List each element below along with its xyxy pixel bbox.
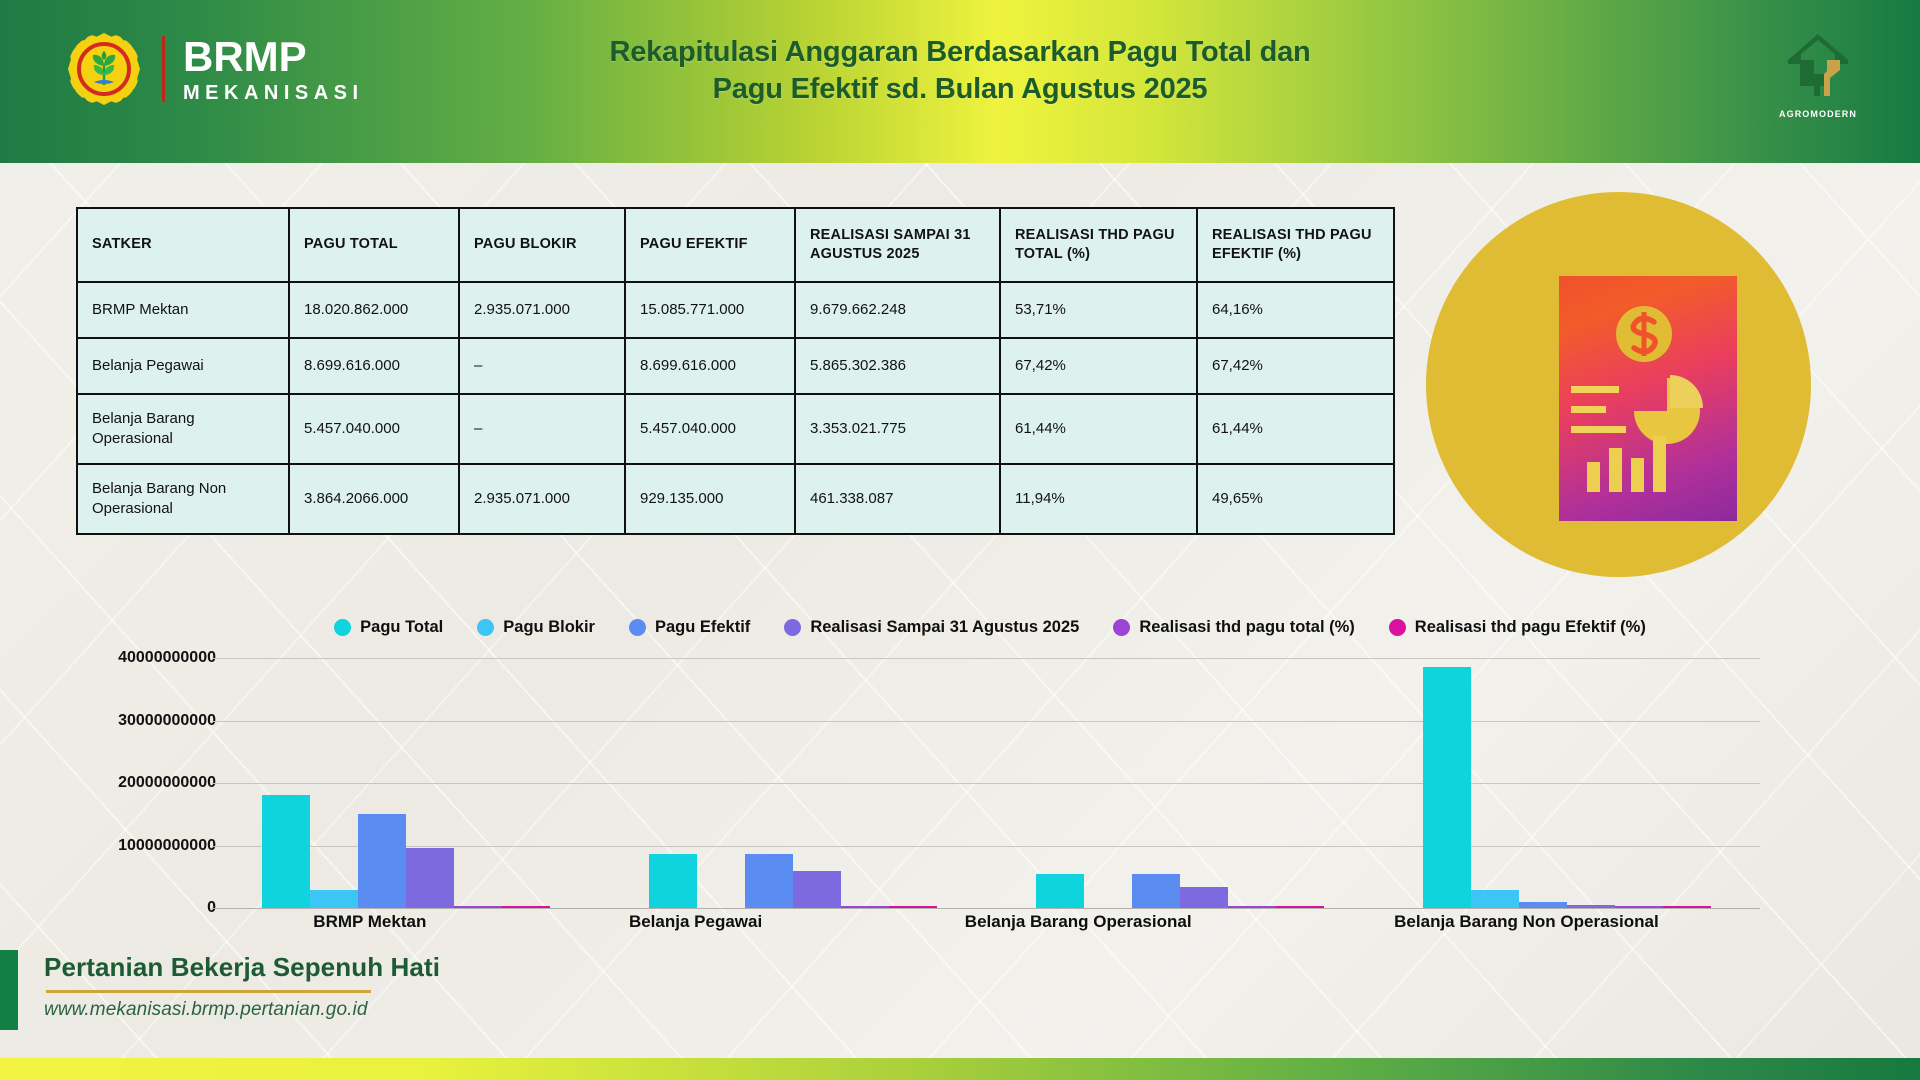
legend-item-pct-efektif[interactable]: Realisasi thd pagu Efektif (%) [1389,618,1646,637]
cell-pct-efektif: 64,16% [1197,282,1394,338]
bar[interactable] [454,906,502,909]
x-tick-label: Belanja Barang Non Operasional [1394,912,1659,932]
cell-realisasi: 461.338.087 [795,464,1000,534]
bar[interactable] [1519,902,1567,908]
bar[interactable] [745,854,793,908]
legend-swatch-icon [1113,619,1130,636]
legend-swatch-icon [477,619,494,636]
legend-item-pagu-total[interactable]: Pagu Total [334,618,443,637]
cell-pagu-efektif: 15.085.771.000 [625,282,795,338]
bar[interactable] [1180,887,1228,908]
cell-realisasi: 5.865.302.386 [795,338,1000,394]
brand-secondary-label: MEKANISASI [183,83,364,103]
pie-chart-icon [1634,375,1703,444]
cell-satker: Belanja Barang Operasional [77,394,289,464]
cell-pagu-total: 18.020.862.000 [289,282,459,338]
cell-realisasi: 9.679.662.248 [795,282,1000,338]
cell-pagu-total: 8.699.616.000 [289,338,459,394]
y-tick-label: 40000000000 [118,649,216,667]
bar[interactable] [1471,890,1519,908]
plant-icon [87,51,121,87]
footer-url[interactable]: www.mekanisasi.brmp.pertanian.go.id [44,999,440,1021]
agromodern-mark-icon [1780,30,1856,102]
legend-swatch-icon [334,619,351,636]
col-pagu-blokir: PAGU BLOKIR [459,208,625,282]
cell-pagu-blokir: 2.935.071.000 [459,464,625,534]
bar[interactable] [1132,874,1180,908]
col-realisasi: REALISASI SAMPAI 31 AGUSTUS 2025 [795,208,1000,282]
y-tick-label: 10000000000 [118,837,216,855]
bar[interactable] [358,814,406,908]
footer-tagline: Pertanian Bekerja Sepenuh Hati [44,952,440,983]
bar[interactable] [1276,906,1324,909]
bar-group [1423,658,1711,908]
cell-pct-total: 11,94% [1000,464,1197,534]
bar[interactable] [262,795,310,908]
col-satker: SATKER [77,208,289,282]
cell-pct-total: 53,71% [1000,282,1197,338]
cell-satker: Belanja Pegawai [77,338,289,394]
bar[interactable] [406,848,454,908]
bar[interactable] [1228,906,1276,909]
cell-pct-efektif: 67,42% [1197,338,1394,394]
gridline [212,908,1760,909]
cell-pagu-total: 3.864.2066.000 [289,464,459,534]
legend-item-realisasi[interactable]: Realisasi Sampai 31 Agustus 2025 [784,618,1079,637]
bar[interactable] [1615,906,1663,909]
footer-gradient-strip [0,1058,1920,1080]
cell-pagu-efektif: 8.699.616.000 [625,338,795,394]
legend-item-pagu-blokir[interactable]: Pagu Blokir [477,618,595,637]
recap-table: SATKER PAGU TOTAL PAGU BLOKIR PAGU EFEKT… [76,207,1395,535]
cell-satker: Belanja Barang Non Operasional [77,464,289,534]
cell-pagu-efektif: 929.135.000 [625,464,795,534]
col-pagu-total: PAGU TOTAL [289,208,459,282]
cell-pagu-blokir: – [459,338,625,394]
legend-item-pct-total[interactable]: Realisasi thd pagu total (%) [1113,618,1354,637]
cell-pct-total: 61,44% [1000,394,1197,464]
bar[interactable] [841,906,889,909]
chart-x-axis: BRMP MektanBelanja PegawaiBelanja Barang… [212,912,1760,932]
bar[interactable] [793,871,841,908]
brmp-logo: BRMP MEKANISASI [68,33,364,105]
legend-swatch-icon [784,619,801,636]
legend-item-pagu-efektif[interactable]: Pagu Efektif [629,618,750,637]
bar[interactable] [1663,906,1711,909]
footer-rule [46,990,371,993]
recap-table-container: SATKER PAGU TOTAL PAGU BLOKIR PAGU EFEKT… [76,207,1395,535]
bar-group [262,658,550,908]
cell-pct-efektif: 61,44% [1197,394,1394,464]
cell-realisasi: 3.353.021.775 [795,394,1000,464]
chart-bars [212,658,1760,908]
table-row: Belanja Barang Non Operasional 3.864.206… [77,464,1394,534]
y-tick-label: 20000000000 [118,774,216,792]
chart-legend: Pagu Total Pagu Blokir Pagu Efektif Real… [0,610,1920,644]
budget-bar-chart: Pagu Total Pagu Blokir Pagu Efektif Real… [0,610,1920,950]
agromodern-label: AGROMODERN [1768,109,1868,119]
col-pagu-efektif: PAGU EFEKTIF [625,208,795,282]
bar[interactable] [889,906,937,909]
cell-pct-efektif: 49,65% [1197,464,1394,534]
page-footer: Pertanian Bekerja Sepenuh Hati www.mekan… [0,950,1920,1058]
col-pct-total: REALISASI THD PAGU TOTAL (%) [1000,208,1197,282]
cell-satker: BRMP Mektan [77,282,289,338]
report-glyphs [1559,276,1737,521]
bar[interactable] [1567,905,1615,908]
page-title-line1: Rekapitulasi Anggaran Berdasarkan Pagu T… [400,34,1520,71]
bar[interactable] [502,906,550,909]
chart-y-axis: 0100000000002000000000030000000000400000… [76,658,216,908]
brand-divider [162,36,165,102]
page-header: BRMP MEKANISASI Rekapitulasi Anggaran Be… [0,0,1920,163]
page-title-line2: Pagu Efektif sd. Bulan Agustus 2025 [400,71,1520,108]
table-row: Belanja Pegawai 8.699.616.000 – 8.699.61… [77,338,1394,394]
table-header-row: SATKER PAGU TOTAL PAGU BLOKIR PAGU EFEKT… [77,208,1394,282]
x-tick-label: Belanja Pegawai [629,912,762,932]
legend-swatch-icon [1389,619,1406,636]
bar[interactable] [1036,874,1084,908]
bar[interactable] [649,854,697,908]
agromodern-logo: AGROMODERN [1768,30,1868,119]
table-row: Belanja Barang Operasional 5.457.040.000… [77,394,1394,464]
x-tick-label: BRMP Mektan [313,912,426,932]
cell-pct-total: 67,42% [1000,338,1197,394]
chart-plot-area: 0100000000002000000000030000000000400000… [0,658,1920,924]
table-row: BRMP Mektan 18.020.862.000 2.935.071.000… [77,282,1394,338]
financial-report-document-icon [1559,276,1737,521]
cell-pagu-blokir: 2.935.071.000 [459,282,625,338]
bar-chart-icon [1587,436,1666,492]
bar-group [649,658,937,908]
ministry-seal-icon [68,33,140,105]
bar[interactable] [310,890,358,908]
report-illustration [1426,192,1811,577]
cell-pagu-total: 5.457.040.000 [289,394,459,464]
cell-pagu-efektif: 5.457.040.000 [625,394,795,464]
y-tick-label: 30000000000 [118,712,216,730]
cell-pagu-blokir: – [459,394,625,464]
brand-primary-label: BRMP [183,36,364,78]
text-lines-icon [1571,386,1626,433]
bar-group [1036,658,1324,908]
footer-accent-bar [0,950,18,1030]
bar[interactable] [1423,667,1471,909]
x-tick-label: Belanja Barang Operasional [965,912,1192,932]
legend-swatch-icon [629,619,646,636]
col-pct-efektif: REALISASI THD PAGU EFEKTIF (%) [1197,208,1394,282]
page-title: Rekapitulasi Anggaran Berdasarkan Pagu T… [400,34,1520,108]
